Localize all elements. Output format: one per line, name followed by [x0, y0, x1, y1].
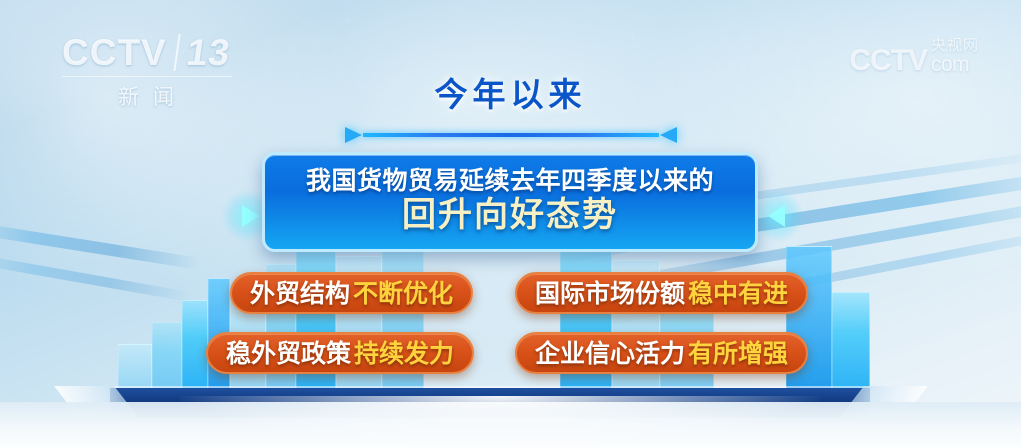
callout-line-1: 我国货物贸易延续去年四季度以来的 — [306, 167, 714, 195]
pill-prefix: 企业信心活力 — [535, 341, 685, 366]
channel-logo-mark: CCTV 13 — [62, 34, 232, 71]
headline-block: 今年以来 — [0, 78, 1021, 111]
site-watermark: CCTV 央视网 com — [849, 38, 979, 75]
chart-bar — [152, 322, 182, 396]
chart-bar — [182, 300, 208, 396]
broadcast-graphic-stage: CCTV 13 新闻 CCTV 央视网 com 今年以来 我国货物贸易延续去年四… — [0, 0, 1021, 448]
chart-bar — [786, 246, 832, 396]
pill-prefix: 国际市场份额 — [535, 281, 685, 306]
triangle-right-icon — [345, 127, 362, 143]
watermark-cn-label: 央视网 — [931, 38, 979, 53]
channel-logo-text: CCTV — [62, 34, 167, 71]
point-pill-2: 国际市场份额 稳中有进 — [515, 272, 808, 314]
pill-highlight: 有所增强 — [688, 341, 788, 366]
pill-highlight: 持续发力 — [354, 341, 454, 366]
point-pill-3: 稳外贸政策 持续发力 — [206, 332, 474, 374]
callout-line-2: 回升向好态势 — [402, 197, 618, 234]
headline-title: 今年以来 — [0, 78, 1021, 111]
stage-floor-glow — [180, 396, 820, 448]
watermark-brand: CCTV — [849, 47, 927, 76]
main-callout-box: 我国货物贸易延续去年四季度以来的 回升向好态势 — [262, 152, 758, 252]
point-pill-1: 外贸结构 不断优化 — [230, 272, 473, 314]
chart-bar — [832, 292, 870, 396]
pill-prefix: 稳外贸政策 — [226, 341, 351, 366]
triangle-left-glow-icon — [752, 190, 804, 242]
headline-divider — [345, 126, 677, 144]
point-pill-4: 企业信心活力 有所增强 — [515, 332, 808, 374]
watermark-domain: com — [931, 54, 969, 75]
divider-line — [363, 133, 659, 137]
triangle-left-icon — [660, 127, 677, 143]
channel-number: 13 — [173, 34, 232, 71]
pill-prefix: 外贸结构 — [250, 281, 350, 306]
pill-highlight: 不断优化 — [353, 281, 453, 306]
watermark-right: 央视网 com — [931, 38, 979, 75]
pill-highlight: 稳中有进 — [688, 281, 788, 306]
